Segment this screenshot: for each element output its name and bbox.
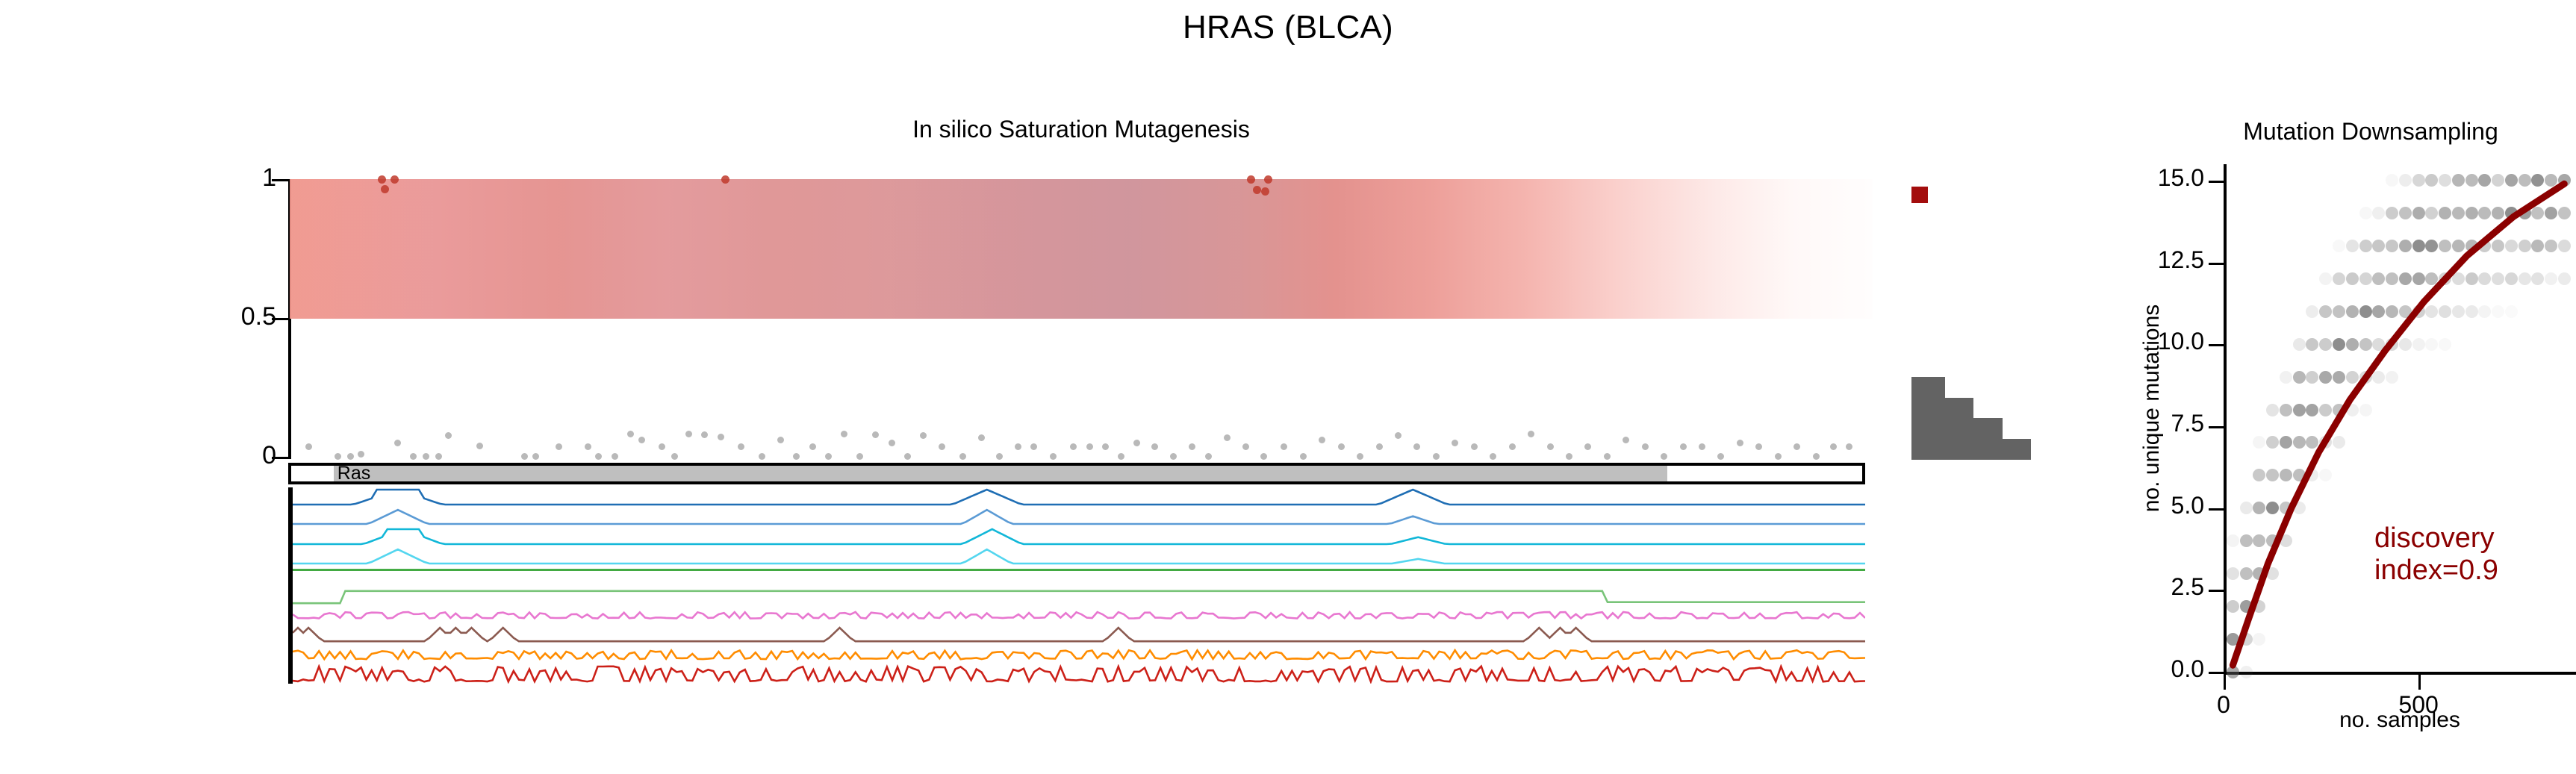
passenger-dot[interactable] [1642,443,1649,450]
passenger-dot[interactable] [996,453,1003,460]
passenger-dot[interactable] [841,431,847,437]
track-line [293,666,1865,681]
ds-ytick [2209,263,2224,265]
passenger-dot[interactable] [978,434,985,441]
passenger-dot[interactable] [476,443,483,449]
passenger-dot[interactable] [1509,443,1516,450]
passenger-dot[interactable] [856,453,863,460]
track-line [293,651,1865,660]
passenger-dot[interactable] [1661,453,1667,460]
passenger-dot[interactable] [701,431,708,438]
feature-track-0[interactable] [293,487,1865,507]
passenger-dot[interactable] [685,431,692,437]
passenger-dot[interactable] [1566,453,1572,460]
passenger-dot[interactable] [1433,453,1440,460]
ds-xtick [2224,675,2226,690]
passenger-dot[interactable] [347,453,354,460]
feature-track-1[interactable] [293,507,1865,526]
ds-ytick [2209,344,2224,346]
passenger-dot[interactable] [1717,453,1724,460]
passenger-dot[interactable] [1070,443,1077,450]
ds-ytick-label: 15.0 [2115,164,2204,192]
issm-ytick-label-05: 0.5 [196,302,276,331]
passenger-dot[interactable] [1680,443,1687,450]
passenger-dot[interactable] [556,443,562,450]
downsampling-chart-title: Mutation Downsampling [2165,118,2576,146]
feature-tracks [288,487,1865,684]
passenger-dot[interactable] [612,453,618,460]
track-line [293,590,1865,602]
passenger-dot[interactable] [394,440,401,446]
passenger-dot[interactable] [738,443,744,450]
passenger-dot[interactable] [1846,443,1852,450]
ds-ytick-label: 5.0 [2115,492,2204,519]
passenger-dot[interactable] [585,443,591,450]
passenger-dot[interactable] [1490,453,1496,460]
passenger-dot[interactable] [759,453,765,460]
passenger-dot[interactable] [305,443,312,450]
passenger-dot[interactable] [1584,443,1591,450]
passenger-dot[interactable] [793,453,800,460]
downsampling-panel: no. unique mutations no. samples discove… [2135,149,2576,717]
passenger-dot[interactable] [1376,443,1383,450]
passenger-dot[interactable] [1452,440,1458,446]
passenger-dot[interactable] [445,432,452,439]
passenger-dot[interactable] [659,443,665,450]
passenger-dot[interactable] [627,431,634,437]
passenger-dot[interactable] [718,434,724,440]
passenger-dot[interactable] [1547,443,1554,450]
feature-track-4[interactable] [293,566,1865,585]
saturation-curve [2225,164,2576,672]
ds-ytick-label: 7.5 [2115,410,2204,437]
downsampling-x-axis [2224,672,2576,675]
feature-track-6[interactable] [293,605,1865,625]
passenger-dot[interactable] [777,437,784,443]
passenger-dot[interactable] [521,453,528,460]
passenger-dot[interactable] [1755,443,1762,450]
track-line [293,529,1865,544]
downsampling-plot-area[interactable]: discovery index=0.9 [2225,164,2576,672]
passenger-dot[interactable] [358,451,364,458]
discovery-index-line1: discovery [2374,522,2498,555]
ds-ytick-label: 12.5 [2115,246,2204,274]
track-line [293,628,1865,641]
passenger-dot[interactable] [904,453,911,460]
ds-ytick [2209,181,2224,183]
issm-panel: boostDM score 1 0.5 0 [0,149,1882,463]
passenger-dot[interactable] [335,453,341,460]
score-distribution-histogram [1911,377,2031,459]
feature-track-8[interactable] [293,644,1865,664]
ds-xtick-label: 0 [2179,691,2268,719]
protein-domain-bar[interactable]: Ras [288,463,1865,484]
track-line [293,490,1865,505]
feature-track-7[interactable] [293,625,1865,644]
passenger-dot[interactable] [809,443,816,450]
passenger-dot[interactable] [1281,443,1287,450]
passenger-dot[interactable] [1793,443,1800,450]
passenger-dot[interactable] [1528,431,1534,437]
driver-dot[interactable] [721,175,729,184]
ds-ytick [2209,426,2224,428]
feature-track-9[interactable] [293,664,1865,684]
track-line [293,549,1865,564]
passenger-dot[interactable] [1604,453,1611,460]
issm-ytick-label-1: 1 [231,163,276,193]
passenger-dot[interactable] [1170,453,1177,460]
driver-dot[interactable] [1261,187,1269,196]
discovery-index-line2: index=0.9 [2374,555,2498,587]
issm-chart-title: In silico Saturation Mutagenesis [290,116,1873,143]
passenger-dot[interactable] [1030,443,1037,450]
passenger-dot[interactable] [1357,453,1363,460]
discovery-index-annotation: discovery index=0.9 [2374,522,2498,586]
passenger-dot[interactable] [1395,432,1401,439]
feature-track-5[interactable] [293,586,1865,605]
passenger-dot[interactable] [1133,440,1140,446]
passenger-dot[interactable] [1413,443,1420,450]
passenger-dot[interactable] [638,437,645,443]
passenger-dot[interactable] [920,432,927,439]
passenger-dot[interactable] [1015,443,1021,450]
passenger-dot[interactable] [1623,437,1629,443]
ds-ytick-label: 2.5 [2115,573,2204,601]
feature-track-3[interactable] [293,546,1865,566]
passenger-dot[interactable] [1086,443,1093,450]
passenger-dot[interactable] [1118,453,1124,460]
passenger-dot[interactable] [959,453,966,460]
passenger-dot[interactable] [1300,453,1307,460]
passenger-dot[interactable] [1102,443,1109,450]
domain-label: Ras [337,463,370,484]
passenger-dot[interactable] [1050,453,1057,460]
domain-region-ras[interactable]: Ras [334,466,1667,481]
passenger-dot[interactable] [532,453,539,460]
passenger-dot[interactable] [1775,453,1782,460]
passenger-dot[interactable] [423,453,429,460]
passenger-dot[interactable] [1813,453,1820,460]
passenger-dot[interactable] [1699,443,1705,450]
issm-plot-area[interactable] [290,179,1873,459]
driver-dot[interactable] [1247,175,1255,184]
passenger-dot[interactable] [595,453,602,460]
passenger-dot[interactable] [1189,443,1195,450]
passenger-dot[interactable] [1471,443,1478,450]
passenger-dot[interactable] [1224,434,1231,441]
ds-ytick [2209,590,2224,592]
histogram-bar [1911,439,2031,461]
ds-ytick [2209,508,2224,511]
annotation-track-block: Ras 3D clusters tumor-type3D clusters pa… [0,463,1882,687]
passenger-dot[interactable] [1319,437,1325,443]
passenger-dot[interactable] [1151,443,1158,450]
passenger-dot[interactable] [671,453,678,460]
passenger-dot[interactable] [435,453,442,460]
downsampling-y-axis-label: no. unique mutations [2139,237,2165,580]
passenger-dot[interactable] [939,443,945,450]
histogram-bar [1911,377,1945,399]
driver-legend-swatch [1911,187,1928,203]
ds-ytick-label: 0.0 [2115,655,2204,683]
score-gradient-band [290,179,1873,319]
histogram-bar [1911,398,1973,419]
ds-ytick-label: 10.0 [2115,328,2204,355]
passenger-dot[interactable] [1737,440,1743,446]
feature-track-2[interactable] [293,527,1865,546]
passenger-dot[interactable] [872,431,879,438]
passenger-dot[interactable] [410,453,417,460]
passenger-dot[interactable] [1260,453,1267,460]
passenger-dot[interactable] [1338,443,1345,450]
passenger-dot[interactable] [1242,443,1249,450]
passenger-dot[interactable] [825,453,832,460]
page-title: HRAS (BLCA) [0,9,2576,46]
track-line [293,612,1865,619]
passenger-dot[interactable] [1830,443,1837,450]
ds-xtick [2418,675,2421,690]
track-line [293,510,1865,524]
ds-ytick [2209,672,2224,674]
passenger-dot[interactable] [889,440,895,446]
histogram-bar [1911,418,2003,440]
driver-dot[interactable] [378,175,386,184]
ds-xtick-label: 500 [2374,691,2463,719]
driver-dot[interactable] [391,175,399,184]
passenger-dot[interactable] [1205,453,1212,460]
